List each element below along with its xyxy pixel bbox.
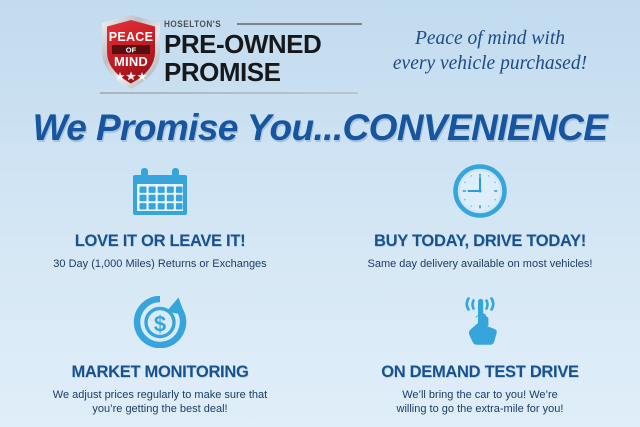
feature-description-line: Same day delivery available on most vehi… <box>367 257 592 271</box>
dealer-name: HOSELTON'S <box>164 19 221 30</box>
feature-description: 30 Day (1,000 Miles) Returns or Exchange… <box>53 257 266 271</box>
header-rule-top <box>237 23 363 25</box>
feature-description-line: We adjust prices regularly to make sure … <box>53 388 267 402</box>
feature-grid: LOVE IT OR LEAVE IT! 30 Day (1,000 Miles… <box>0 158 640 420</box>
feature-market-monitoring: $ MARKET MONITORING We adjust prices reg… <box>0 289 320 420</box>
header: PEACE OF MIND HOSELTON'S PRE-OWNED <box>0 0 640 100</box>
tagline-line2: every vehicle purchased! <box>356 51 624 76</box>
tagline: Peace of mind with every vehicle purchas… <box>356 26 624 76</box>
feature-title: MARKET MONITORING <box>71 363 248 382</box>
peace-of-mind-promo-graphic: PEACE OF MIND HOSELTON'S PRE-OWNED <box>0 0 640 427</box>
tagline-line1: Peace of mind with <box>356 26 624 51</box>
clock-icon <box>453 164 507 218</box>
calendar-icon <box>132 164 188 218</box>
svg-text:$: $ <box>154 312 166 337</box>
feature-description-line: 30 Day (1,000 Miles) Returns or Exchange… <box>53 257 266 271</box>
feature-description-line: willing to go the extra-mile for you! <box>397 402 564 416</box>
tap-hand-icon <box>453 295 507 349</box>
peace-of-mind-shield-icon: PEACE OF MIND <box>100 14 162 90</box>
feature-buy-today-drive-today: BUY TODAY, DRIVE TODAY! Same day deliver… <box>320 158 640 289</box>
program-title-line2: PROMISE <box>164 59 280 85</box>
feature-description-line: We’ll bring the car to you! We’re <box>397 388 564 402</box>
feature-title: ON DEMAND TEST DRIVE <box>381 363 579 382</box>
feature-love-it-or-leave-it: LOVE IT OR LEAVE IT! 30 Day (1,000 Miles… <box>0 158 320 289</box>
feature-description: We adjust prices regularly to make sure … <box>53 388 267 416</box>
feature-description-line: you’re getting the best deal! <box>53 402 267 416</box>
program-title-line1: PRE-OWNED <box>164 31 321 57</box>
feature-title: LOVE IT OR LEAVE IT! <box>75 232 246 251</box>
feature-title: BUY TODAY, DRIVE TODAY! <box>374 232 586 251</box>
feature-on-demand-test-drive: ON DEMAND TEST DRIVE We’ll bring the car… <box>320 289 640 420</box>
feature-description: We’ll bring the car to you! We’re willin… <box>397 388 564 416</box>
header-rule-bottom <box>100 92 358 94</box>
brand-wordmark: HOSELTON'S PRE-OWNED PROMISE <box>164 8 364 94</box>
svg-text:MIND: MIND <box>114 54 148 69</box>
dollar-refresh-icon: $ <box>133 295 187 349</box>
main-headline: We Promise You...CONVENIENCE <box>0 107 640 149</box>
brand-lockup: PEACE OF MIND HOSELTON'S PRE-OWNED <box>96 8 364 96</box>
feature-description: Same day delivery available on most vehi… <box>367 257 592 271</box>
svg-text:PEACE: PEACE <box>109 30 154 44</box>
